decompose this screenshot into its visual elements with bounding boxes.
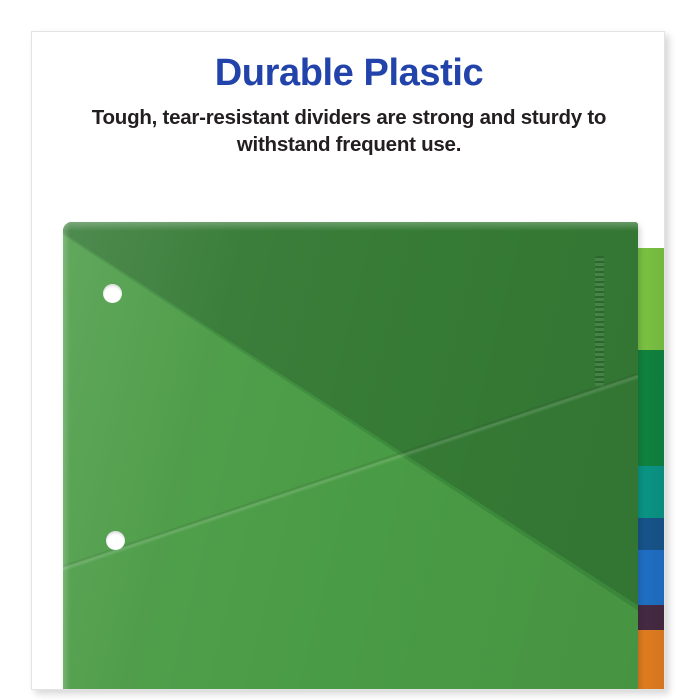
green-divider-sheet xyxy=(63,222,638,690)
reinforced-edge-strip xyxy=(595,256,604,386)
product-image-card: Durable Plastic Tough, tear-resistant di… xyxy=(31,31,665,690)
punch-hole-bottom xyxy=(106,531,125,550)
punch-hole-top xyxy=(103,284,122,303)
product-photo xyxy=(32,32,665,690)
